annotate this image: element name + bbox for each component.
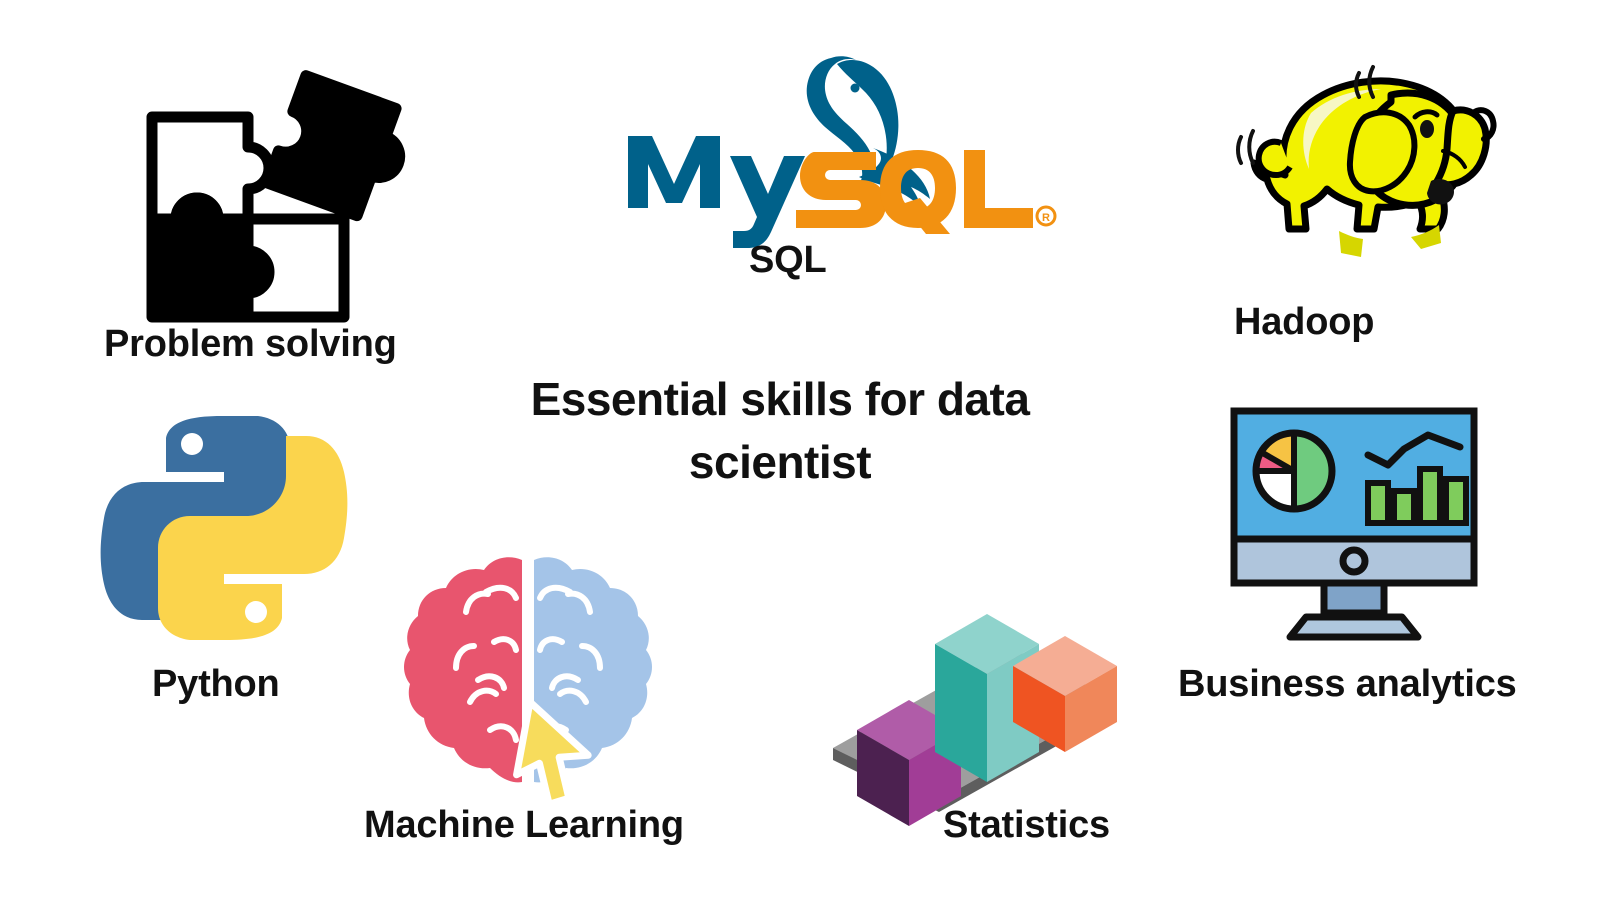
label-hadoop: Hadoop — [1234, 303, 1374, 341]
label-python: Python — [152, 665, 280, 703]
infographic-canvas: Problem solving — [0, 0, 1600, 900]
bar-chart-3d-icon — [825, 552, 1125, 802]
monitor-camera-icon — [1343, 550, 1365, 572]
skill-hadoop — [1215, 55, 1495, 285]
skill-sql: R — [618, 48, 958, 218]
page-title-line-1: Essential skills for data — [480, 368, 1080, 431]
mysql-wordmark-my — [628, 136, 805, 248]
mysql-registered-icon: R — [1037, 207, 1055, 225]
svg-text:R: R — [1042, 212, 1050, 224]
puzzle-icon — [130, 55, 390, 315]
label-problem-solving: Problem solving — [104, 325, 397, 363]
skill-machine-learning — [408, 550, 648, 798]
skill-statistics — [825, 552, 1125, 802]
mysql-logo-icon: R — [618, 48, 958, 218]
label-business-analytics: Business analytics — [1178, 665, 1517, 703]
page-title-line-2: scientist — [480, 431, 1080, 494]
monitor-dashboard-icon — [1228, 405, 1480, 643]
python-eye-top — [181, 433, 203, 455]
hadoop-elephant-icon — [1215, 55, 1495, 285]
mysql-wordmark-sql — [796, 150, 1033, 234]
skill-problem-solving — [130, 55, 390, 315]
python-eye-bottom — [245, 601, 267, 623]
skill-python — [104, 412, 344, 644]
label-machine-learning: Machine Learning — [364, 806, 684, 844]
dashboard-pie-chart — [1256, 433, 1332, 509]
label-statistics: Statistics — [943, 806, 1110, 844]
monitor-neck — [1324, 583, 1384, 613]
brain-cursor-icon — [408, 550, 648, 798]
monitor-base — [1290, 617, 1418, 637]
label-sql: SQL — [749, 241, 827, 279]
python-logo-icon — [104, 412, 344, 644]
page-title: Essential skills for data scientist — [480, 368, 1080, 495]
skill-business-analytics — [1228, 405, 1480, 643]
